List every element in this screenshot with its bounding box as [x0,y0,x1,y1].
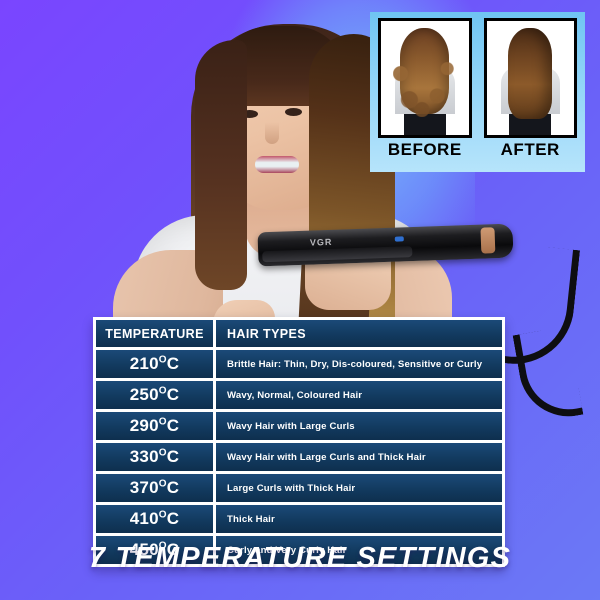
poster-headline: 7 TEMPERATURE SETTINGS [0,542,600,575]
model-nose [265,122,279,144]
model-hair-left [195,40,247,290]
hair-type-value: Wavy Hair with Large Curls [227,421,355,432]
hair-type-value: Thick Hair [227,514,275,525]
model-smile [255,156,299,173]
table-row: 250OCWavy, Normal, Coloured Hair [96,381,502,409]
product-poster: VGR BEFORE [0,0,600,600]
hair-type-value: Brittle Hair: Thin, Dry, Dis-coloured, S… [227,359,482,370]
degree-symbol: O [159,509,167,520]
header-cell-temperature: TEMPERATURE [96,320,213,347]
cell-temperature: 370OC [96,474,213,502]
table-row: 290OCWavy Hair with Large Curls [96,412,502,440]
degree-symbol: O [159,416,167,427]
hair-type-value: Large Curls with Thick Hair [227,483,355,494]
table-row: 410OCThick Hair [96,505,502,533]
after-hair-straight [508,28,552,119]
cell-temperature: 250OC [96,381,213,409]
after-figure [487,21,575,135]
hair-type-value: Wavy Hair with Large Curls and Thick Hai… [227,452,426,463]
temperature-value: 370OC [130,478,179,498]
cell-temperature: 290OC [96,412,213,440]
before-figure [381,21,469,135]
temperature-value: 290OC [130,416,179,436]
temperature-value: 410OC [130,509,179,529]
cell-temperature: 210OC [96,350,213,378]
straightener-hinge [480,227,495,253]
cell-hair-type: Wavy Hair with Large Curls [216,412,502,440]
temperature-value: 330OC [130,447,179,467]
before-label: BEFORE [378,140,472,168]
cell-hair-type: Wavy Hair with Large Curls and Thick Hai… [216,443,502,471]
hair-type-value: Wavy, Normal, Coloured Hair [227,390,362,401]
before-image [378,18,472,138]
temperature-settings-table: TEMPERATURE HAIR TYPES 210OCBrittle Hair… [93,317,505,567]
cell-hair-type: Large Curls with Thick Hair [216,474,502,502]
degree-symbol: O [159,354,167,365]
power-indicator-led [395,236,404,241]
header-hair-types-label: HAIR TYPES [227,327,306,341]
cell-temperature: 410OC [96,505,213,533]
cell-hair-type: Brittle Hair: Thin, Dry, Dis-coloured, S… [216,350,502,378]
cell-hair-type: Wavy, Normal, Coloured Hair [216,381,502,409]
table-row: 210OCBrittle Hair: Thin, Dry, Dis-colour… [96,350,502,378]
table-header-row: TEMPERATURE HAIR TYPES [96,320,502,347]
before-after-panel: BEFORE AFTER [370,12,585,172]
degree-symbol: O [159,385,167,396]
power-cord-lower [513,326,584,424]
after-label: AFTER [484,140,578,168]
before-after-images [378,18,577,138]
temperature-value: 250OC [130,385,179,405]
after-image [484,18,578,138]
before-frizz-texture [393,55,456,117]
before-after-labels: BEFORE AFTER [378,140,577,168]
model-eye-right [285,108,302,116]
temperature-value: 210OC [130,354,179,374]
header-temperature-label: TEMPERATURE [105,327,204,341]
degree-symbol: O [159,447,167,458]
table-row: 370OCLarge Curls with Thick Hair [96,474,502,502]
table-row: 330OCWavy Hair with Large Curls and Thic… [96,443,502,471]
cell-hair-type: Thick Hair [216,505,502,533]
degree-symbol: O [159,478,167,489]
table-body: 210OCBrittle Hair: Thin, Dry, Dis-colour… [96,350,502,564]
cell-temperature: 330OC [96,443,213,471]
brand-logo: VGR [310,237,333,248]
header-cell-hair-types: HAIR TYPES [216,320,502,347]
